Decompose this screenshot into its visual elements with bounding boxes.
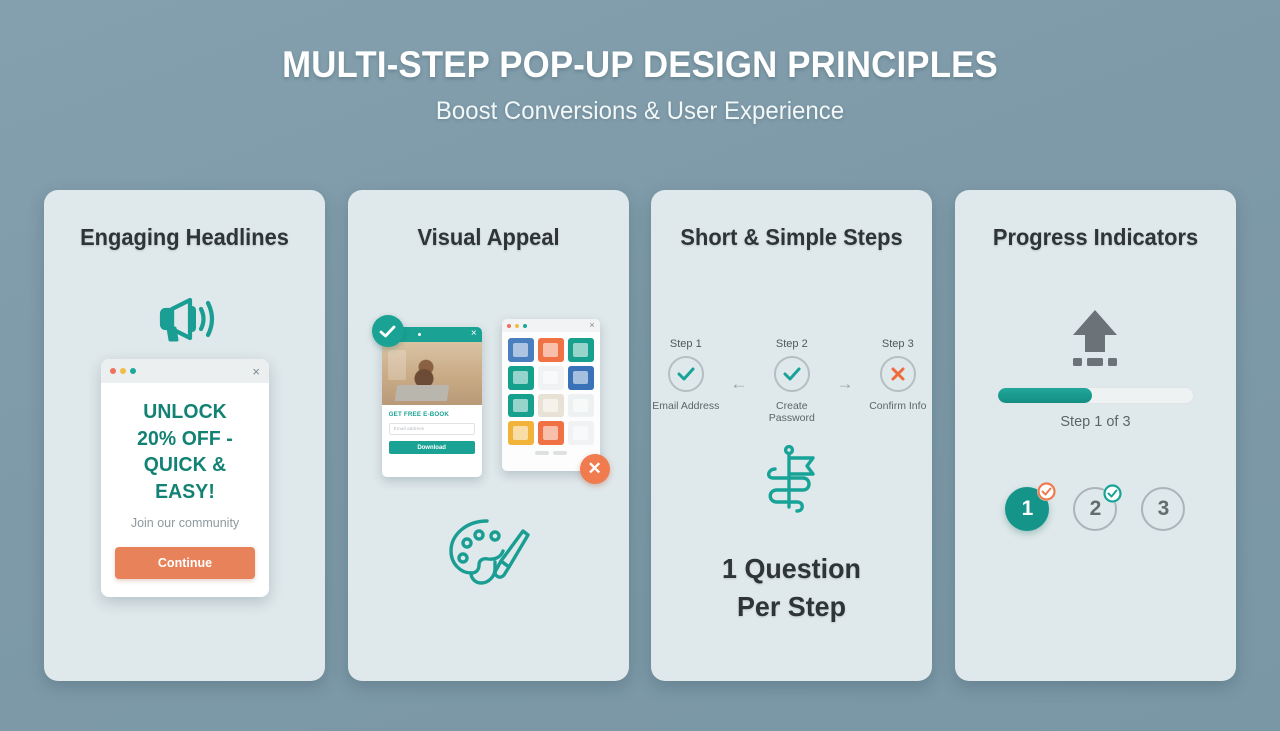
page-title: MULTI-STEP POP-UP DESIGN PRINCIPLES <box>38 44 1241 86</box>
step-flow: Step 1 Email Address ← Step 2 Create Pas… <box>651 338 932 424</box>
headline-line-2: 20% OFF - <box>117 426 253 453</box>
card-title: Progress Indicators <box>962 224 1229 251</box>
thumbnail-tile[interactable] <box>568 366 594 390</box>
window-dot-green <box>523 324 527 328</box>
card-visual-appeal[interactable]: Visual Appeal × GET FREE E-BOOK Email ad… <box>348 190 629 681</box>
card-progress-indicators[interactable]: Progress Indicators Step 1 of 3 1 2 <box>955 190 1236 681</box>
thumbnail-tile[interactable] <box>538 394 564 418</box>
step-label: Step 1 <box>651 338 720 350</box>
email-field[interactable]: Email address <box>389 423 475 435</box>
close-circle-icon: ✕ <box>580 454 610 484</box>
thumbnail-tile[interactable] <box>568 421 594 445</box>
hero-photo <box>382 342 482 405</box>
step-item-3[interactable]: Step 3 Confirm Info <box>863 338 932 424</box>
window-dot-red <box>507 324 511 328</box>
mock-body: GET FREE E-BOOK Email address Download <box>382 405 482 460</box>
flag-path-icon <box>757 445 827 528</box>
cards-container: Engaging Headlines × <box>44 190 1236 681</box>
progress-caption: Step 1 of 3 <box>955 414 1236 430</box>
palette-icon <box>443 513 533 594</box>
check-icon <box>774 356 810 392</box>
popup-body: UNLOCK 20% OFF - QUICK & EASY! Join our … <box>101 383 269 597</box>
callout-line-1: 1 Question <box>657 550 927 588</box>
headline-line-3: QUICK & EASY! <box>117 452 253 505</box>
cross-icon <box>880 356 916 392</box>
arrow-left-icon: ← <box>730 374 747 394</box>
card-short-simple-steps[interactable]: Short & Simple Steps Step 1 Email Addres… <box>651 190 932 681</box>
close-icon[interactable]: × <box>589 321 594 330</box>
callout-line-2: Per Step <box>657 588 927 626</box>
thumbnail-tile[interactable] <box>508 338 534 362</box>
card-title: Short & Simple Steps <box>658 224 925 251</box>
step-item-1[interactable]: Step 1 Email Address <box>651 338 720 424</box>
mock-heading: GET FREE E-BOOK <box>389 411 475 418</box>
thumbnail-grid <box>502 332 600 451</box>
thumbnail-tile[interactable] <box>538 421 564 445</box>
card-engaging-headlines[interactable]: Engaging Headlines × <box>44 190 325 681</box>
step-sublabel: Confirm Info <box>863 400 932 412</box>
window-dot-red <box>110 368 116 374</box>
headline-line-1: UNLOCK <box>117 399 253 426</box>
megaphone-icon <box>154 294 216 351</box>
thumbnail-tile[interactable] <box>538 338 564 362</box>
step-number: 1 <box>1022 497 1034 521</box>
close-icon[interactable]: × <box>252 365 260 378</box>
card-title: Visual Appeal <box>355 224 622 251</box>
window-dot-green <box>130 368 136 374</box>
progress-bar <box>997 387 1194 404</box>
step-circle-2[interactable]: 2 <box>1073 487 1117 531</box>
step-circle-1[interactable]: 1 <box>1005 487 1049 531</box>
window-dots <box>507 324 527 328</box>
popup-window[interactable]: × UNLOCK 20% OFF - QUICK & EASY! Join ou… <box>101 359 269 597</box>
page-subtitle: Boost Conversions & User Experience <box>26 97 1255 126</box>
thumbnail-tile[interactable] <box>568 338 594 362</box>
mock-dot <box>418 333 421 336</box>
pager-dot <box>535 451 549 455</box>
progress-bar-fill <box>998 388 1092 403</box>
upload-arrow-icon <box>1069 308 1121 373</box>
big-callout: 1 Question Per Step <box>657 550 927 626</box>
window-dot-yellow <box>515 324 519 328</box>
arrow-right-icon: → <box>836 374 853 394</box>
window-dots <box>110 368 136 374</box>
pager-dot <box>553 451 567 455</box>
step-sublabel: Email Address <box>651 400 720 412</box>
close-icon[interactable]: × <box>471 328 477 339</box>
step-circle-3[interactable]: 3 <box>1141 487 1185 531</box>
thumbnail-tile[interactable] <box>508 366 534 390</box>
gallery-popup-mock[interactable]: × <box>502 319 600 471</box>
continue-button[interactable]: Continue <box>115 547 255 579</box>
popup-headline: UNLOCK 20% OFF - QUICK & EASY! <box>117 399 253 505</box>
step-sublabel: Create Password <box>757 400 826 424</box>
mockups-group: × GET FREE E-BOOK Email address Download <box>372 315 608 480</box>
step-label: Step 2 <box>757 338 826 350</box>
window-dot-yellow <box>120 368 126 374</box>
step-item-2[interactable]: Step 2 Create Password <box>757 338 826 424</box>
thumbnail-tile[interactable] <box>508 394 534 418</box>
thumbnail-tile[interactable] <box>508 421 534 445</box>
check-icon <box>668 356 704 392</box>
pager-dots[interactable] <box>502 451 600 455</box>
step-circles: 1 2 3 <box>955 487 1236 531</box>
ebook-popup-mock[interactable]: × GET FREE E-BOOK Email address Download <box>382 327 482 477</box>
download-button[interactable]: Download <box>389 441 475 454</box>
mock-title-bar: × <box>502 319 600 332</box>
thumbnail-tile[interactable] <box>568 394 594 418</box>
step-number: 2 <box>1090 497 1102 521</box>
page-header: MULTI-STEP POP-UP DESIGN PRINCIPLES Boos… <box>0 0 1280 126</box>
check-circle-icon <box>372 315 404 347</box>
step-number: 3 <box>1158 497 1170 521</box>
popup-title-bar: × <box>101 359 269 383</box>
thumbnail-tile[interactable] <box>538 366 564 390</box>
check-badge-teal-icon <box>1103 484 1122 503</box>
check-badge-orange-icon <box>1037 482 1056 501</box>
step-label: Step 3 <box>863 338 932 350</box>
card-title: Engaging Headlines <box>51 224 318 251</box>
popup-subcopy: Join our community <box>115 516 255 530</box>
